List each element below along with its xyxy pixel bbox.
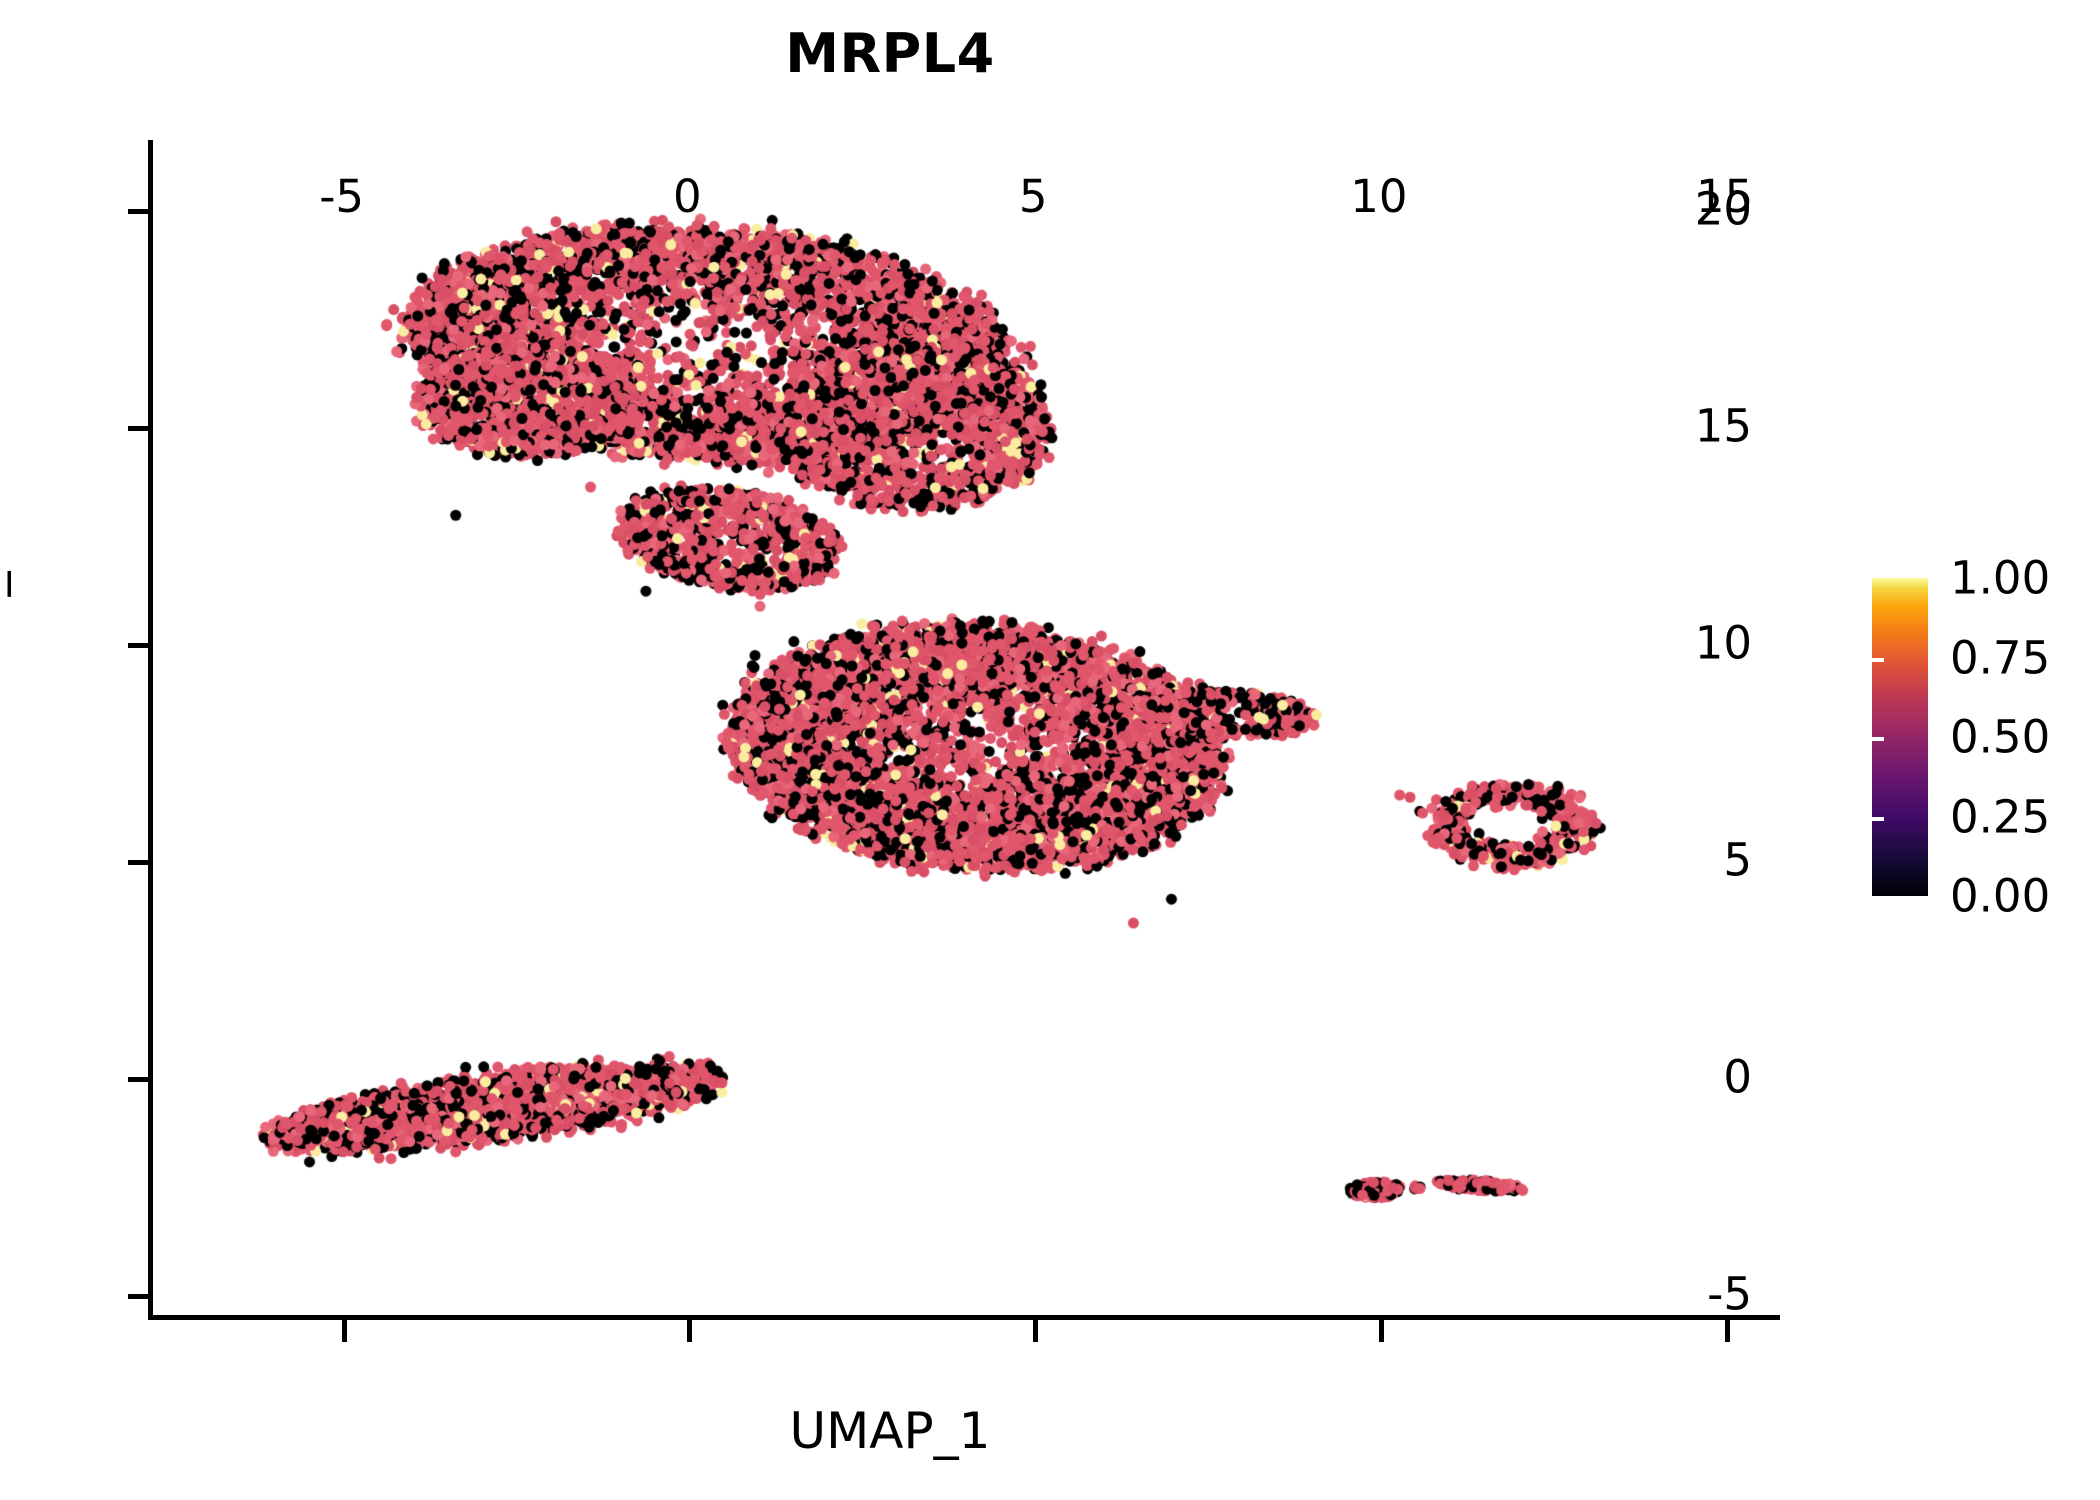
y-tick-mark xyxy=(128,209,148,214)
colorbar-tick-label: 0.50 xyxy=(1950,711,2050,764)
x-axis-label: UMAP_1 xyxy=(0,1402,1780,1460)
colorbar-tick-mark xyxy=(1872,737,1884,741)
colorbar-tick-label: 1.00 xyxy=(1950,552,2050,605)
y-tick-label: -5 xyxy=(1707,1267,1752,1320)
x-tick-label: 10 xyxy=(1350,170,1407,223)
scatter-plot-canvas xyxy=(148,140,1780,1320)
x-tick-mark xyxy=(687,1320,692,1342)
y-tick-label: 5 xyxy=(1723,834,1752,887)
plot-axes-area: -505101520 -5051015 xyxy=(148,140,1780,1320)
y-tick-mark xyxy=(128,426,148,431)
x-tick-label: -5 xyxy=(319,170,364,223)
colorbar-tick-mark xyxy=(2060,737,2072,741)
x-tick-mark xyxy=(1033,1320,1038,1342)
x-tick-mark xyxy=(342,1320,347,1342)
colorbar-tick-mark xyxy=(1872,658,1884,662)
y-axis-label: UMAP_2 xyxy=(0,540,11,741)
y-tick-mark xyxy=(128,1294,148,1299)
colorbar-tick-mark xyxy=(2060,658,2072,662)
y-tick-mark xyxy=(128,860,148,865)
y-tick-label: 10 xyxy=(1695,617,1752,670)
x-tick-label: 0 xyxy=(673,170,702,223)
x-tick-label: 5 xyxy=(1019,170,1048,223)
colorbar-tick-label: 0.75 xyxy=(1950,631,2050,684)
y-tick-mark xyxy=(128,1077,148,1082)
umap-feature-plot-figure: MRPL4 -505101520 -5051015 UMAP_1 UMAP_2 … xyxy=(0,0,2100,1500)
y-tick-label: 15 xyxy=(1695,400,1752,453)
x-tick-mark xyxy=(1379,1320,1384,1342)
colorbar-legend: 1.000.750.500.250.00 xyxy=(1872,578,2072,898)
x-tick-label: 15 xyxy=(1696,170,1753,223)
page-title: MRPL4 xyxy=(0,22,1780,85)
y-tick-mark xyxy=(128,643,148,648)
colorbar-tick-label: 0.00 xyxy=(1950,870,2050,923)
colorbar-tick-label: 0.25 xyxy=(1950,790,2050,843)
x-tick-mark xyxy=(1725,1320,1730,1342)
y-tick-label: 0 xyxy=(1723,1051,1752,1104)
colorbar-tick-mark xyxy=(2060,817,2072,821)
colorbar-tick-mark xyxy=(1872,817,1884,821)
